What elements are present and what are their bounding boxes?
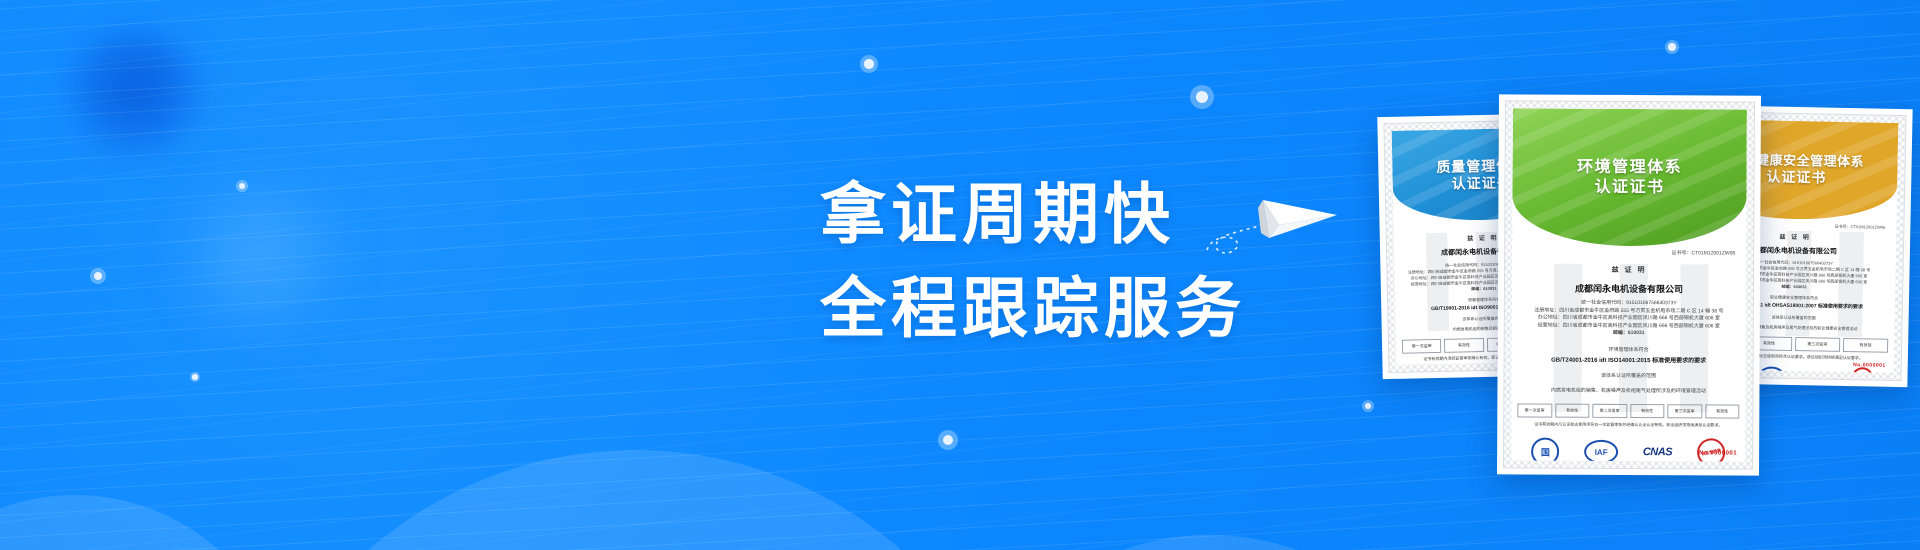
- cnas-china-icon: 国: [1531, 438, 1559, 462]
- certificate-review-box: 第三次监审: [1667, 404, 1702, 418]
- certificate-certify-label: 兹 证 明: [1519, 265, 1739, 277]
- certificate-review-box: 有效性: [1705, 405, 1740, 419]
- decorative-dot: [90, 268, 106, 284]
- certificate-review-box: 第三次监审: [1794, 337, 1840, 352]
- certificate-review-box: 有效性: [1843, 337, 1889, 352]
- headline-line-2: 全程跟踪服务: [820, 262, 1246, 356]
- certificate-scope-detail: 内燃发电机组的销售、机房噪声及机组尾气处理所涉及的环境管理活动: [1518, 387, 1738, 396]
- certificate-company: 成都闰永电机设备有限公司: [1519, 282, 1739, 296]
- certificate-standard: GB/T24001-2016 idt ISO14001:2015 标准使用要求的…: [1519, 357, 1739, 367]
- headline-line-1: 拿证周期快: [820, 168, 1246, 262]
- certificate-title-line1: 环境管理体系: [1577, 158, 1682, 178]
- decorative-dot: [1665, 40, 1679, 54]
- certificate-review-box: 有效性: [1555, 404, 1590, 418]
- iaf-icon: IAF: [1758, 366, 1784, 373]
- cnas-icon: CNAS: [1643, 446, 1672, 458]
- certificate-review-box: 第一次监审: [1517, 404, 1552, 418]
- banner-headline: 拿证周期快 全程跟踪服务: [820, 168, 1246, 355]
- certificate-scope-label: 环境管理体系符合: [1519, 346, 1739, 355]
- decorative-dot: [938, 430, 958, 450]
- certificate-footer-note: 证书有效期内凡认证标志使用须符合一次监督审核并经确认认证认证有效。获证组织须持续…: [1511, 422, 1745, 429]
- certificate-review-box: 有效性: [1444, 338, 1484, 353]
- decorative-dot: [190, 372, 200, 382]
- iaf-icon: IAF: [1584, 440, 1618, 462]
- certificate-review-box: 有效性: [1630, 404, 1665, 418]
- paper-plane-icon: [1205, 178, 1345, 268]
- decorative-dot: [236, 180, 248, 192]
- certificate-environment[interactable]: 环境管理体系 认证证书 证书号：CT01M12001ZW06 兹 证 明 成都闰…: [1497, 94, 1761, 475]
- certificate-serial: 证书号：CT01M12001ZW06: [1519, 250, 1739, 259]
- certificate-review-box: 第一次监审: [1402, 339, 1442, 354]
- certificate-header-environment: 环境管理体系 认证证书: [1512, 108, 1747, 246]
- certificate-number: No.0000001: [1699, 449, 1737, 458]
- promo-banner: 拿证周期快 全程跟踪服务 质量管理体系 认证证书 证书号：CT01M1: [0, 0, 1920, 550]
- certificate-number: No.0000001: [1853, 362, 1886, 370]
- certificate-review-box: 第二次监审: [1592, 404, 1627, 418]
- decorative-dot: [1362, 400, 1374, 412]
- certificate-title-line2: 认证证书: [1594, 177, 1664, 197]
- decorative-dot: [1190, 85, 1214, 109]
- certificate-scope-note: 该体系认证所覆盖的范围: [1519, 373, 1739, 382]
- certificate-postcode: 邮编：610031: [1519, 330, 1739, 339]
- decorative-dot: [860, 55, 878, 73]
- certificate-group: 质量管理体系 认证证书 证书号：CT01M12001ZW06 兹 证 明 成都闰…: [1380, 95, 1920, 495]
- cnas-icon: CNAS: [1809, 372, 1827, 373]
- certificate-title-line2: 认证证书: [1766, 169, 1826, 187]
